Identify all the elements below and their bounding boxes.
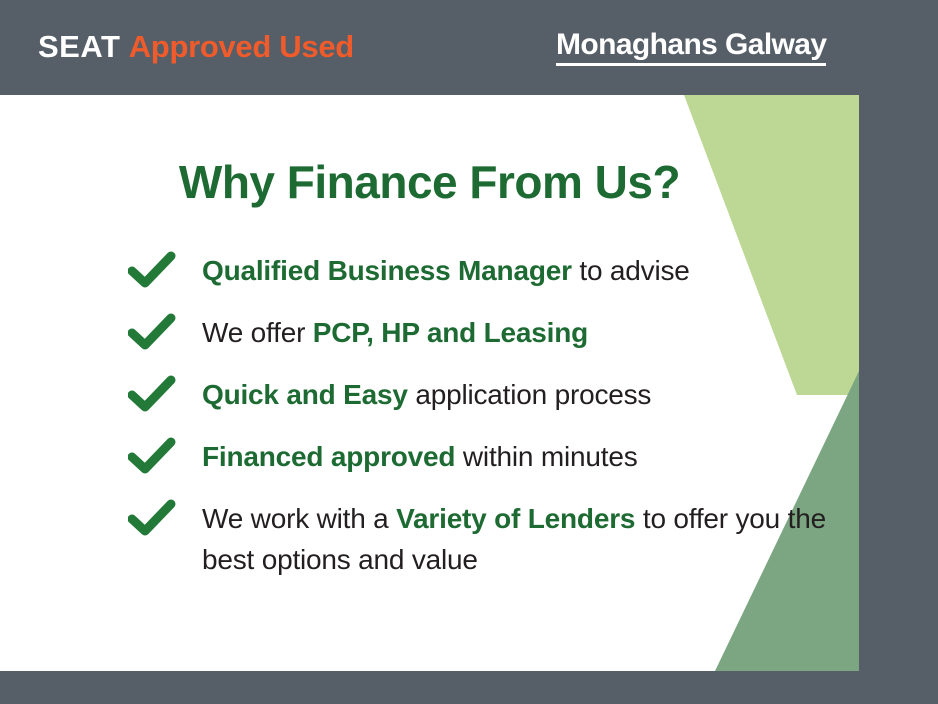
footer-background-band xyxy=(0,671,938,704)
check-mark-icon xyxy=(128,499,184,543)
dealer-name: Monaghans Galway xyxy=(556,30,826,66)
slide-canvas: SEAT Approved Used Monaghans Galway Why … xyxy=(0,0,938,704)
list-item-text-0: Qualified Business Manager to advise xyxy=(184,250,828,291)
brand-name-seat: SEAT xyxy=(38,29,120,64)
list-item: Quick and Easy application process xyxy=(128,374,828,418)
list-item: We work with a Variety of Lenders to off… xyxy=(128,498,828,580)
list-item: Qualified Business Manager to advise xyxy=(128,250,828,294)
list-item-text-2: Quick and Easy application process xyxy=(184,374,828,415)
check-mark-icon xyxy=(128,375,184,419)
list-item-text-3: Financed approved within minutes xyxy=(184,436,828,477)
list-item-text-1: We offer PCP, HP and Leasing xyxy=(184,312,828,353)
brand-approved-used: Approved Used xyxy=(129,29,354,64)
check-mark-icon xyxy=(128,251,184,295)
list-item-text-4: We work with a Variety of Lenders to off… xyxy=(184,498,828,580)
check-mark-icon xyxy=(128,437,184,481)
list-item: Financed approved within minutes xyxy=(128,436,828,480)
page-title: Why Finance From Us? xyxy=(0,157,859,208)
benefits-list: Qualified Business Manager to advise We … xyxy=(128,250,828,598)
brand-lockup: SEAT Approved Used xyxy=(38,31,354,62)
header-bar: SEAT Approved Used Monaghans Galway xyxy=(0,0,938,95)
list-item: We offer PCP, HP and Leasing xyxy=(128,312,828,356)
check-mark-icon xyxy=(128,313,184,357)
right-background-band xyxy=(859,95,938,671)
content-card: Why Finance From Us? Qualified Business … xyxy=(0,95,859,671)
